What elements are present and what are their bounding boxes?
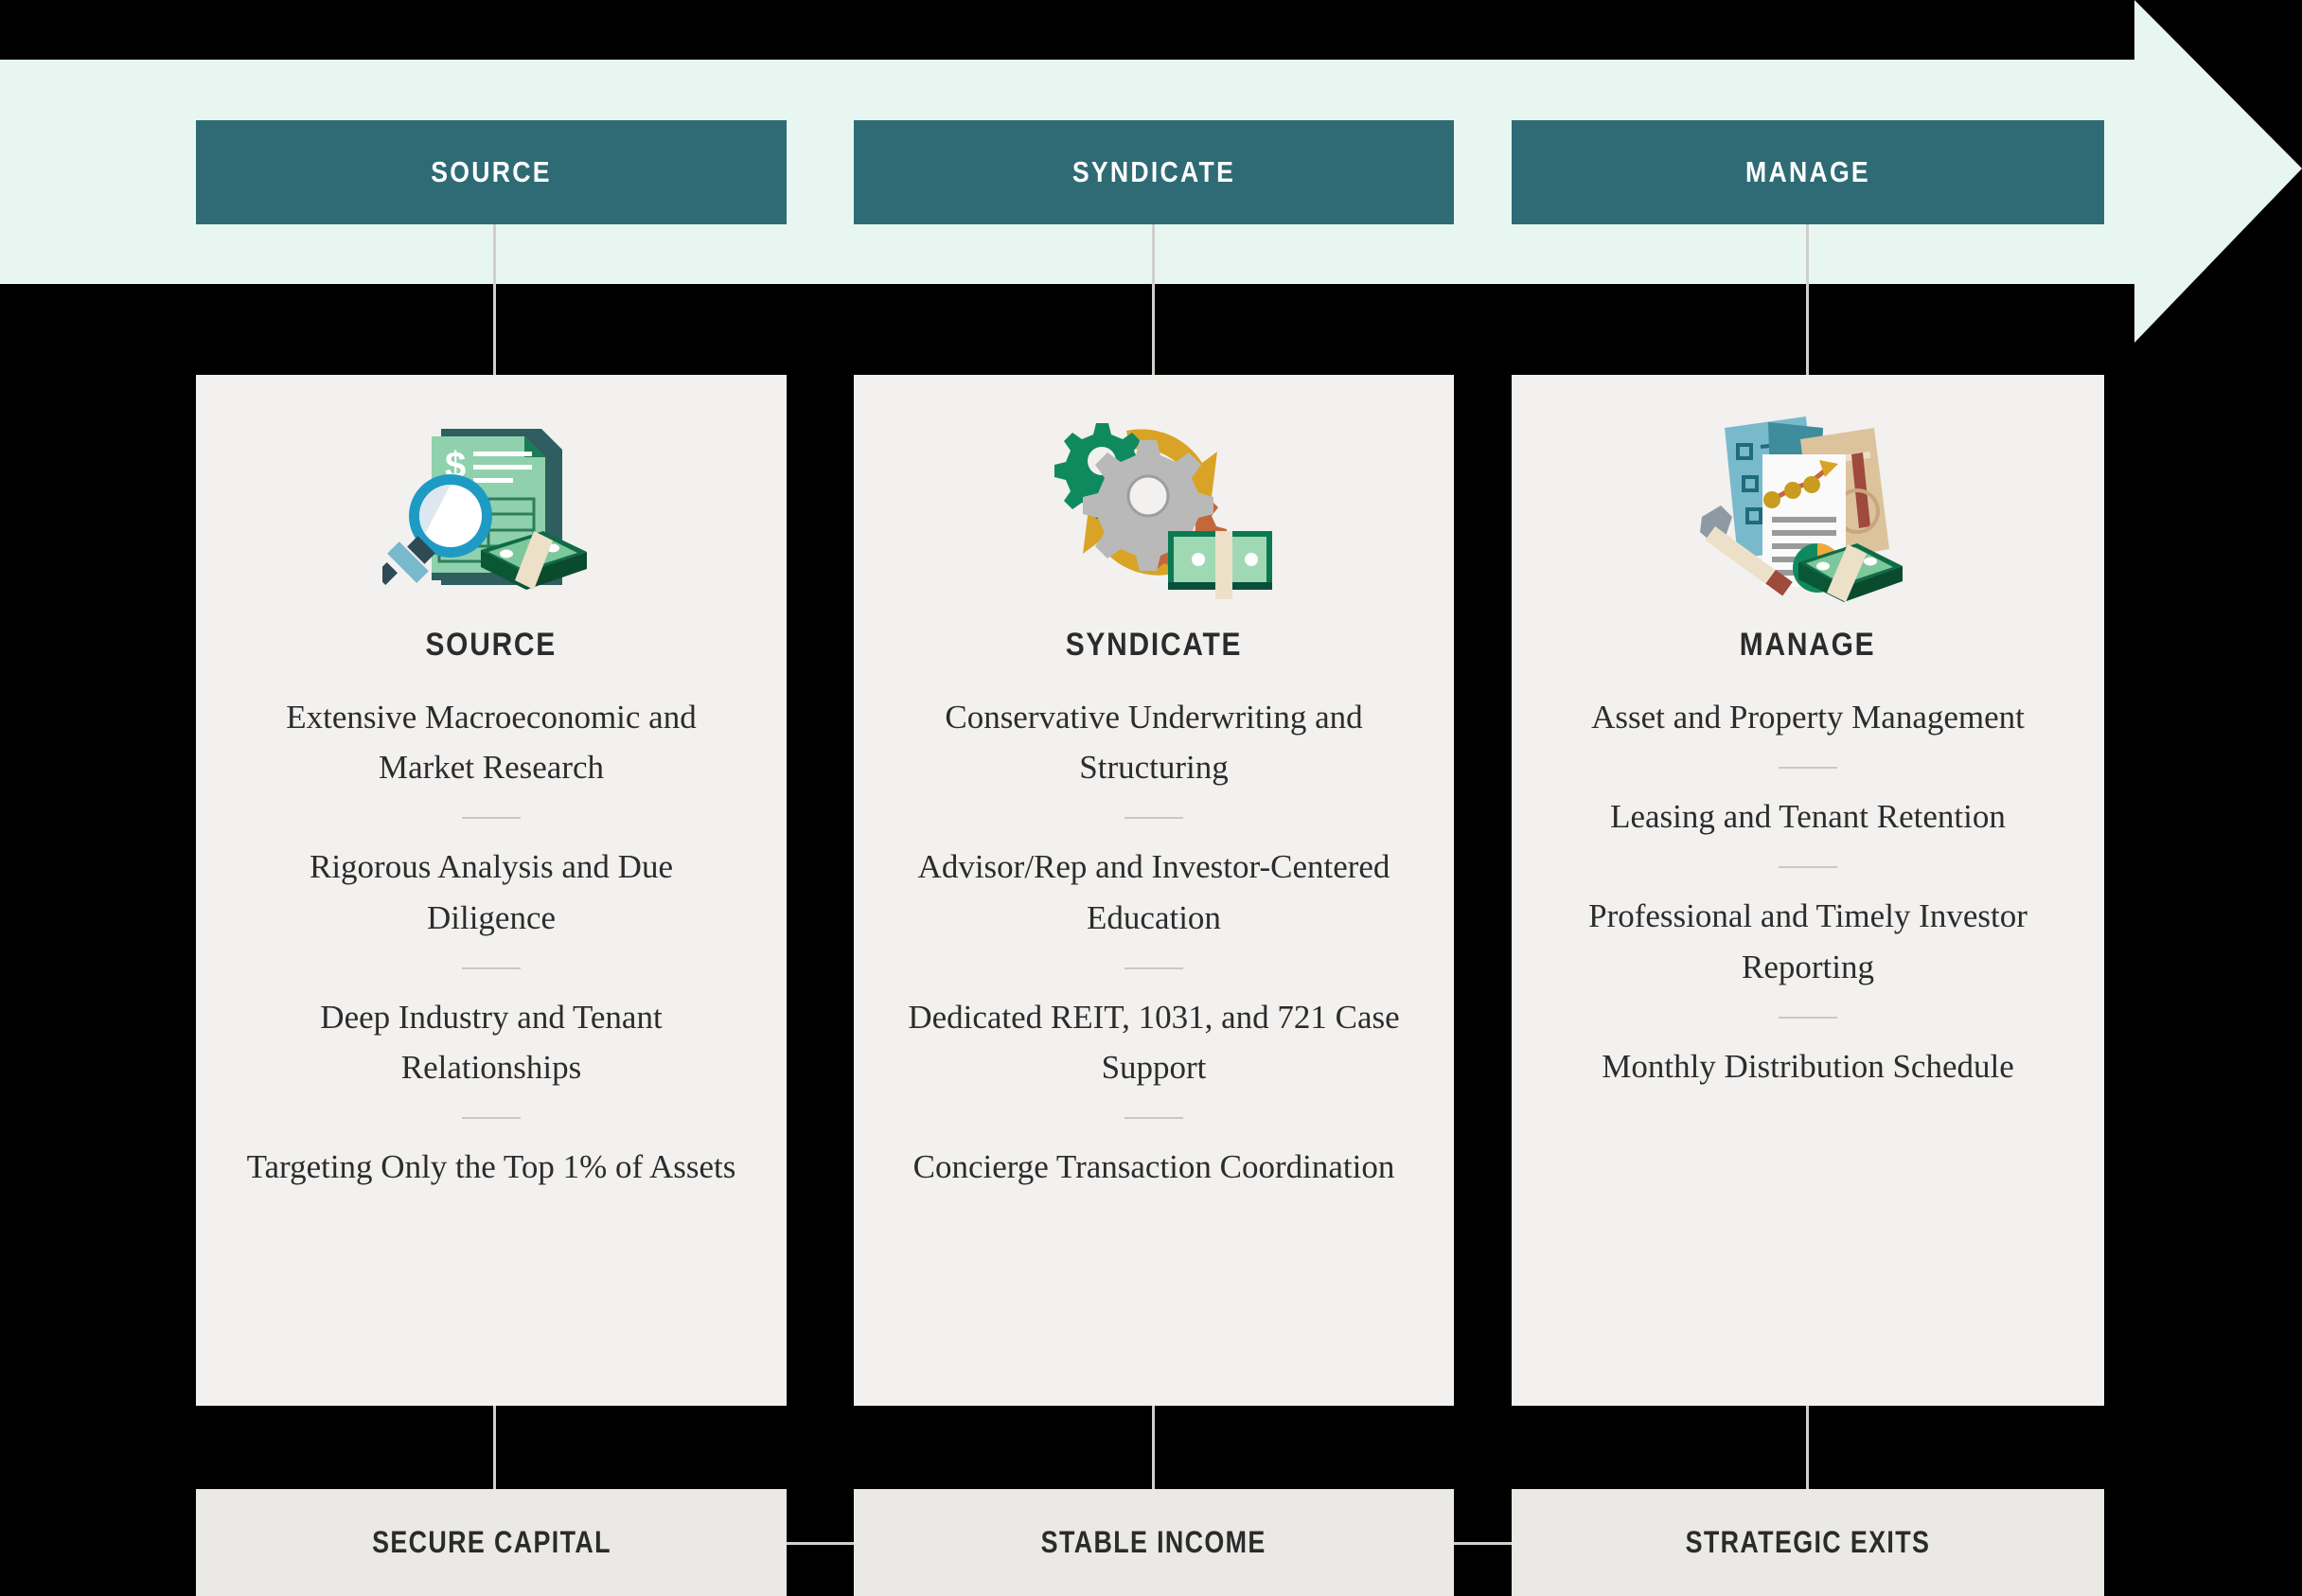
- item-separator: [462, 817, 521, 819]
- connector-line-source-bottom: [493, 1406, 496, 1491]
- connector-line-syndicate-bottom: [1152, 1406, 1155, 1491]
- item-separator: [1779, 767, 1837, 769]
- card-item: Concierge Transaction Coordination: [902, 1142, 1407, 1192]
- card-item: Dedicated REIT, 1031, and 721 Case Suppo…: [902, 992, 1407, 1092]
- card-title: MANAGE: [1740, 627, 1876, 664]
- card-item: Monthly Distribution Schedule: [1559, 1041, 2057, 1091]
- phase-chip-label: SOURCE: [431, 155, 551, 189]
- phase-card-source[interactable]: $: [196, 375, 787, 1406]
- phase-card-manage[interactable]: MANAGE Asset and Property Management Lea…: [1512, 375, 2104, 1406]
- item-separator: [1124, 1117, 1183, 1119]
- card-item: Leasing and Tenant Retention: [1559, 791, 2057, 842]
- process-flow-diagram: SOURCE SYNDICATE MANAGE $: [0, 0, 2302, 1565]
- outcome-link-2: [1454, 1542, 1513, 1545]
- outcome-bar-stable-income[interactable]: STABLE INCOME: [854, 1489, 1454, 1596]
- card-item: Advisor/Rep and Investor-Centered Educat…: [902, 842, 1407, 942]
- item-separator: [1779, 1017, 1837, 1019]
- document-magnifier-cash-icon: $: [196, 396, 787, 613]
- outcome-bar-secure-capital[interactable]: SECURE CAPITAL: [196, 1489, 787, 1596]
- connector-line-manage-top: [1806, 224, 1809, 376]
- outcome-label: SECURE CAPITAL: [372, 1525, 611, 1560]
- card-item-list: Conservative Underwriting and Structurin…: [854, 692, 1454, 1192]
- connector-line-source-top: [493, 224, 496, 376]
- item-separator: [462, 967, 521, 969]
- item-separator: [1124, 817, 1183, 819]
- item-separator: [1124, 967, 1183, 969]
- card-item: Deep Industry and Tenant Relationships: [243, 992, 739, 1092]
- card-item: Targeting Only the Top 1% of Assets: [243, 1142, 739, 1192]
- item-separator: [462, 1117, 521, 1119]
- outcome-link-1: [787, 1542, 855, 1545]
- card-title: SOURCE: [426, 627, 558, 664]
- phase-chip-source[interactable]: SOURCE: [238, 120, 746, 224]
- phase-chip-syndicate[interactable]: SYNDICATE: [895, 120, 1411, 224]
- card-item: Conservative Underwriting and Structurin…: [902, 692, 1407, 792]
- phase-chip-label: MANAGE: [1745, 155, 1870, 189]
- card-item: Asset and Property Management: [1559, 692, 2057, 742]
- card-item: Professional and Timely Investor Reporti…: [1559, 891, 2057, 991]
- outcome-label: STRATEGIC EXITS: [1686, 1525, 1931, 1560]
- connector-line-syndicate-top: [1152, 224, 1155, 376]
- card-item: Rigorous Analysis and Due Diligence: [243, 842, 739, 942]
- outcome-label: STABLE INCOME: [1041, 1525, 1266, 1560]
- reports-hammer-cash-icon: [1512, 396, 2104, 613]
- card-item: Extensive Macroeconomic and Market Resea…: [243, 692, 739, 792]
- outcome-bar-strategic-exits[interactable]: STRATEGIC EXITS: [1512, 1489, 2104, 1596]
- card-item-list: Asset and Property Management Leasing an…: [1512, 692, 2104, 1091]
- card-title: SYNDICATE: [1066, 627, 1243, 664]
- item-separator: [1779, 866, 1837, 868]
- card-item-list: Extensive Macroeconomic and Market Resea…: [196, 692, 787, 1192]
- connector-line-manage-bottom: [1806, 1406, 1809, 1491]
- phase-chip-manage[interactable]: MANAGE: [1553, 120, 2063, 224]
- gears-arrows-banknotes-icon: [854, 396, 1454, 613]
- phase-card-syndicate[interactable]: SYNDICATE Conservative Underwriting and …: [854, 375, 1454, 1406]
- phase-chip-label: SYNDICATE: [1072, 155, 1235, 189]
